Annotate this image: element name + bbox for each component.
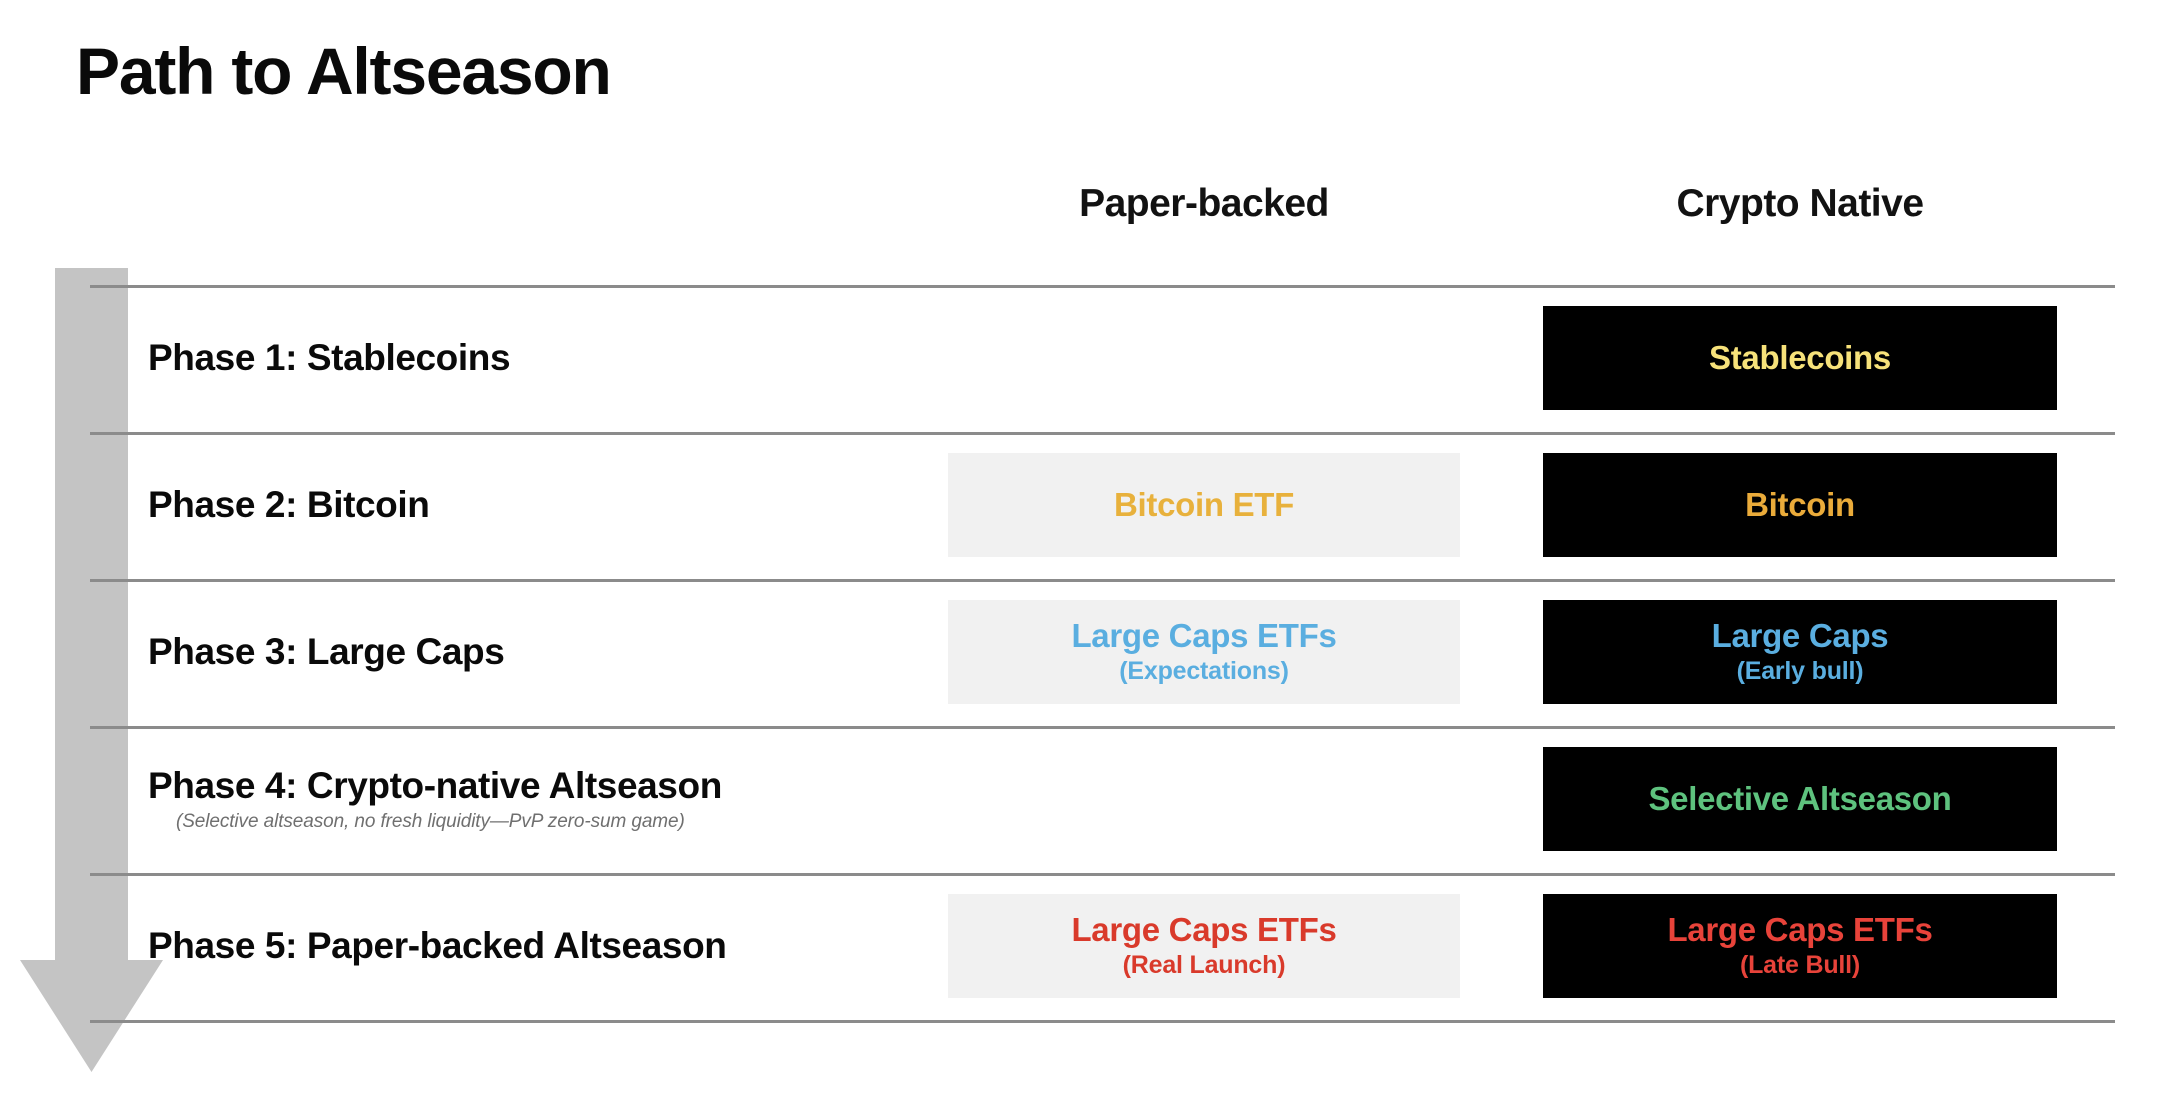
cell-paper-backed[interactable]: Large Caps ETFs(Real Launch) bbox=[948, 894, 1460, 998]
cell-paper-backed[interactable]: Bitcoin ETF bbox=[948, 453, 1460, 557]
cell-paper-backed[interactable]: Large Caps ETFs(Expectations) bbox=[948, 600, 1460, 704]
table-row[interactable]: Phase 1: StablecoinsStablecoins bbox=[0, 285, 2160, 432]
cell-crypto-native[interactable]: Bitcoin bbox=[1543, 453, 2057, 557]
phase-label: Phase 4: Crypto-native Altseason bbox=[148, 766, 722, 807]
cell-sub-label: (Expectations) bbox=[1119, 657, 1288, 686]
cell-main-label: Bitcoin ETF bbox=[1114, 487, 1294, 524]
table-row[interactable]: Phase 2: BitcoinBitcoin ETFBitcoin bbox=[0, 432, 2160, 579]
phase-sublabel: (Selective altseason, no fresh liquidity… bbox=[176, 811, 685, 833]
phase-label: Phase 2: Bitcoin bbox=[148, 485, 429, 526]
phase-label: Phase 1: Stablecoins bbox=[148, 338, 510, 379]
cell-main-label: Stablecoins bbox=[1709, 340, 1891, 377]
phase-label-cell: Phase 5: Paper-backed Altseason bbox=[148, 873, 908, 1020]
phase-label-cell: Phase 4: Crypto-native Altseason(Selecti… bbox=[148, 726, 908, 873]
cell-main-label: Large Caps ETFs bbox=[1667, 912, 1932, 949]
phase-label-cell: Phase 2: Bitcoin bbox=[148, 432, 908, 579]
cell-sub-label: (Early bull) bbox=[1737, 657, 1864, 686]
cell-main-label: Selective Altseason bbox=[1648, 781, 1951, 818]
cell-paper-backed bbox=[948, 306, 1460, 410]
cell-main-label: Bitcoin bbox=[1745, 487, 1855, 524]
cell-crypto-native[interactable]: Stablecoins bbox=[1543, 306, 2057, 410]
cell-main-label: Large Caps bbox=[1712, 618, 1889, 655]
cell-sub-label: (Real Launch) bbox=[1123, 951, 1286, 980]
slide-canvas: Path to Altseason Paper-backed Crypto Na… bbox=[0, 0, 2160, 1109]
phase-label-cell: Phase 1: Stablecoins bbox=[148, 285, 908, 432]
row-divider bbox=[90, 1020, 2115, 1023]
cell-crypto-native[interactable]: Large Caps(Early bull) bbox=[1543, 600, 2057, 704]
cell-crypto-native[interactable]: Selective Altseason bbox=[1543, 747, 2057, 851]
table-row[interactable]: Phase 5: Paper-backed AltseasonLarge Cap… bbox=[0, 873, 2160, 1020]
cell-sub-label: (Late Bull) bbox=[1740, 951, 1860, 980]
table-row[interactable]: Phase 3: Large CapsLarge Caps ETFs(Expec… bbox=[0, 579, 2160, 726]
table-row[interactable]: Phase 4: Crypto-native Altseason(Selecti… bbox=[0, 726, 2160, 873]
phase-label: Phase 5: Paper-backed Altseason bbox=[148, 926, 726, 967]
cell-crypto-native[interactable]: Large Caps ETFs(Late Bull) bbox=[1543, 894, 2057, 998]
cell-main-label: Large Caps ETFs bbox=[1071, 618, 1336, 655]
phase-table: Phase 1: StablecoinsStablecoinsPhase 2: … bbox=[0, 0, 2160, 1109]
phase-label-cell: Phase 3: Large Caps bbox=[148, 579, 908, 726]
cell-main-label: Large Caps ETFs bbox=[1071, 912, 1336, 949]
cell-paper-backed bbox=[948, 747, 1460, 851]
phase-label: Phase 3: Large Caps bbox=[148, 632, 504, 673]
